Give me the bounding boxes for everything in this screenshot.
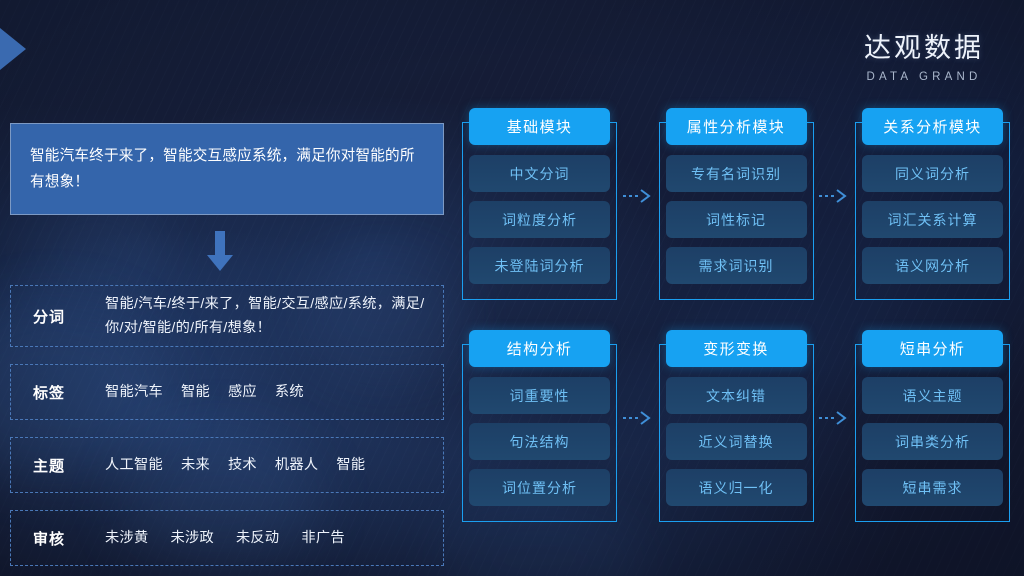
module-items: 词重要性 句法结构 词位置分析	[469, 377, 610, 506]
module-item[interactable]: 语义网分析	[862, 247, 1003, 284]
row-value: 未涉黄 未涉政 未反动 非广告	[105, 526, 345, 550]
chip: 智能	[181, 380, 210, 404]
module-title[interactable]: 结构分析	[469, 330, 610, 367]
dotted-arrow-right-icon	[817, 188, 851, 204]
row-label: 标签	[33, 382, 105, 403]
module-title[interactable]: 基础模块	[469, 108, 610, 145]
module-card-shortstring[interactable]: 短串分析 语义主题 词串类分析 短串需求	[855, 330, 1010, 522]
module-grid: 基础模块 中文分词 词粒度分析 未登陆词分析 属性分析模块 专有名词识别 词性标…	[462, 108, 1010, 520]
row-value: 智能汽车 智能 感应 系统	[105, 380, 304, 404]
module-item[interactable]: 中文分词	[469, 155, 610, 192]
table-row: 标签 智能汽车 智能 感应 系统	[10, 364, 444, 420]
module-item[interactable]: 专有名词识别	[666, 155, 807, 192]
module-item[interactable]: 短串需求	[862, 469, 1003, 506]
module-title[interactable]: 属性分析模块	[666, 108, 807, 145]
brand-name-en: DATA GRAND	[864, 71, 984, 83]
module-item[interactable]: 文本纠错	[666, 377, 807, 414]
module-item[interactable]: 词性标记	[666, 201, 807, 238]
module-item[interactable]: 句法结构	[469, 423, 610, 460]
brand-logo: 达观数据 DATA GRAND	[864, 26, 984, 83]
chip: 智能汽车	[105, 380, 163, 404]
results-table: 分词 智能/汽车/终于/来了，智能/交互/感应/系统，满足/你/对/智能/的/所…	[10, 285, 444, 566]
connector-4	[814, 330, 856, 522]
module-items: 文本纠错 近义词替换 语义归一化	[666, 377, 807, 506]
dotted-arrow-right-icon	[817, 410, 851, 426]
flow-arrow-down	[10, 231, 444, 275]
connector-2	[814, 108, 856, 300]
module-items: 同义词分析 词汇关系计算 语义网分析	[862, 155, 1003, 284]
module-item[interactable]: 词位置分析	[469, 469, 610, 506]
table-row: 分词 智能/汽车/终于/来了，智能/交互/感应/系统，满足/你/对/智能/的/所…	[10, 285, 444, 347]
connector-3	[617, 330, 659, 522]
input-text-box[interactable]: 智能汽车终于来了，智能交互感应系统，满足你对智能的所有想象！	[10, 123, 444, 215]
arrow-down-icon	[205, 231, 235, 273]
module-item[interactable]: 词粒度分析	[469, 201, 610, 238]
connector-1	[617, 108, 659, 300]
module-card-transform[interactable]: 变形变换 文本纠错 近义词替换 语义归一化	[659, 330, 814, 522]
module-title[interactable]: 变形变换	[666, 330, 807, 367]
chip: 系统	[275, 380, 304, 404]
input-text-value: 智能汽车终于来了，智能交互感应系统，满足你对智能的所有想象！	[30, 143, 426, 195]
chip: 未来	[181, 453, 210, 477]
module-item[interactable]: 未登陆词分析	[469, 247, 610, 284]
module-items: 中文分词 词粒度分析 未登陆词分析	[469, 155, 610, 284]
module-item[interactable]: 词重要性	[469, 377, 610, 414]
chip: 未涉黄	[105, 526, 148, 550]
module-card-relation[interactable]: 关系分析模块 同义词分析 词汇关系计算 语义网分析	[855, 108, 1010, 300]
module-items: 专有名词识别 词性标记 需求词识别	[666, 155, 807, 284]
row-label: 主题	[33, 455, 105, 476]
module-item[interactable]: 同义词分析	[862, 155, 1003, 192]
module-item[interactable]: 语义主题	[862, 377, 1003, 414]
chip: 机器人	[275, 453, 318, 477]
row-value: 智能/汽车/终于/来了，智能/交互/感应/系统，满足/你/对/智能/的/所有/想…	[105, 292, 437, 340]
module-title[interactable]: 短串分析	[862, 330, 1003, 367]
dotted-arrow-right-icon	[621, 188, 655, 204]
module-card-attribute[interactable]: 属性分析模块 专有名词识别 词性标记 需求词识别	[659, 108, 814, 300]
brand-name-cn: 达观数据	[864, 26, 984, 65]
corner-triangle-icon	[0, 28, 26, 70]
chip: 智能	[336, 453, 365, 477]
chip: 人工智能	[105, 453, 163, 477]
chip: 非广告	[301, 526, 344, 550]
module-item[interactable]: 近义词替换	[666, 423, 807, 460]
chip: 感应	[228, 380, 257, 404]
module-item[interactable]: 词汇关系计算	[862, 201, 1003, 238]
module-card-basic[interactable]: 基础模块 中文分词 词粒度分析 未登陆词分析	[462, 108, 617, 300]
module-title[interactable]: 关系分析模块	[862, 108, 1003, 145]
analysis-panel: 智能汽车终于来了，智能交互感应系统，满足你对智能的所有想象！ 分词 智能/汽车/…	[10, 123, 444, 566]
module-item[interactable]: 需求词识别	[666, 247, 807, 284]
module-items: 语义主题 词串类分析 短串需求	[862, 377, 1003, 506]
dotted-arrow-right-icon	[621, 410, 655, 426]
chip: 未反动	[236, 526, 279, 550]
row-label: 审核	[33, 528, 105, 549]
chip: 未涉政	[170, 526, 213, 550]
module-card-structure[interactable]: 结构分析 词重要性 句法结构 词位置分析	[462, 330, 617, 522]
table-row: 审核 未涉黄 未涉政 未反动 非广告	[10, 510, 444, 566]
chip: 技术	[228, 453, 257, 477]
module-item[interactable]: 词串类分析	[862, 423, 1003, 460]
row-label: 分词	[33, 306, 105, 327]
module-item[interactable]: 语义归一化	[666, 469, 807, 506]
table-row: 主题 人工智能 未来 技术 机器人 智能	[10, 437, 444, 493]
row-value: 人工智能 未来 技术 机器人 智能	[105, 453, 365, 477]
